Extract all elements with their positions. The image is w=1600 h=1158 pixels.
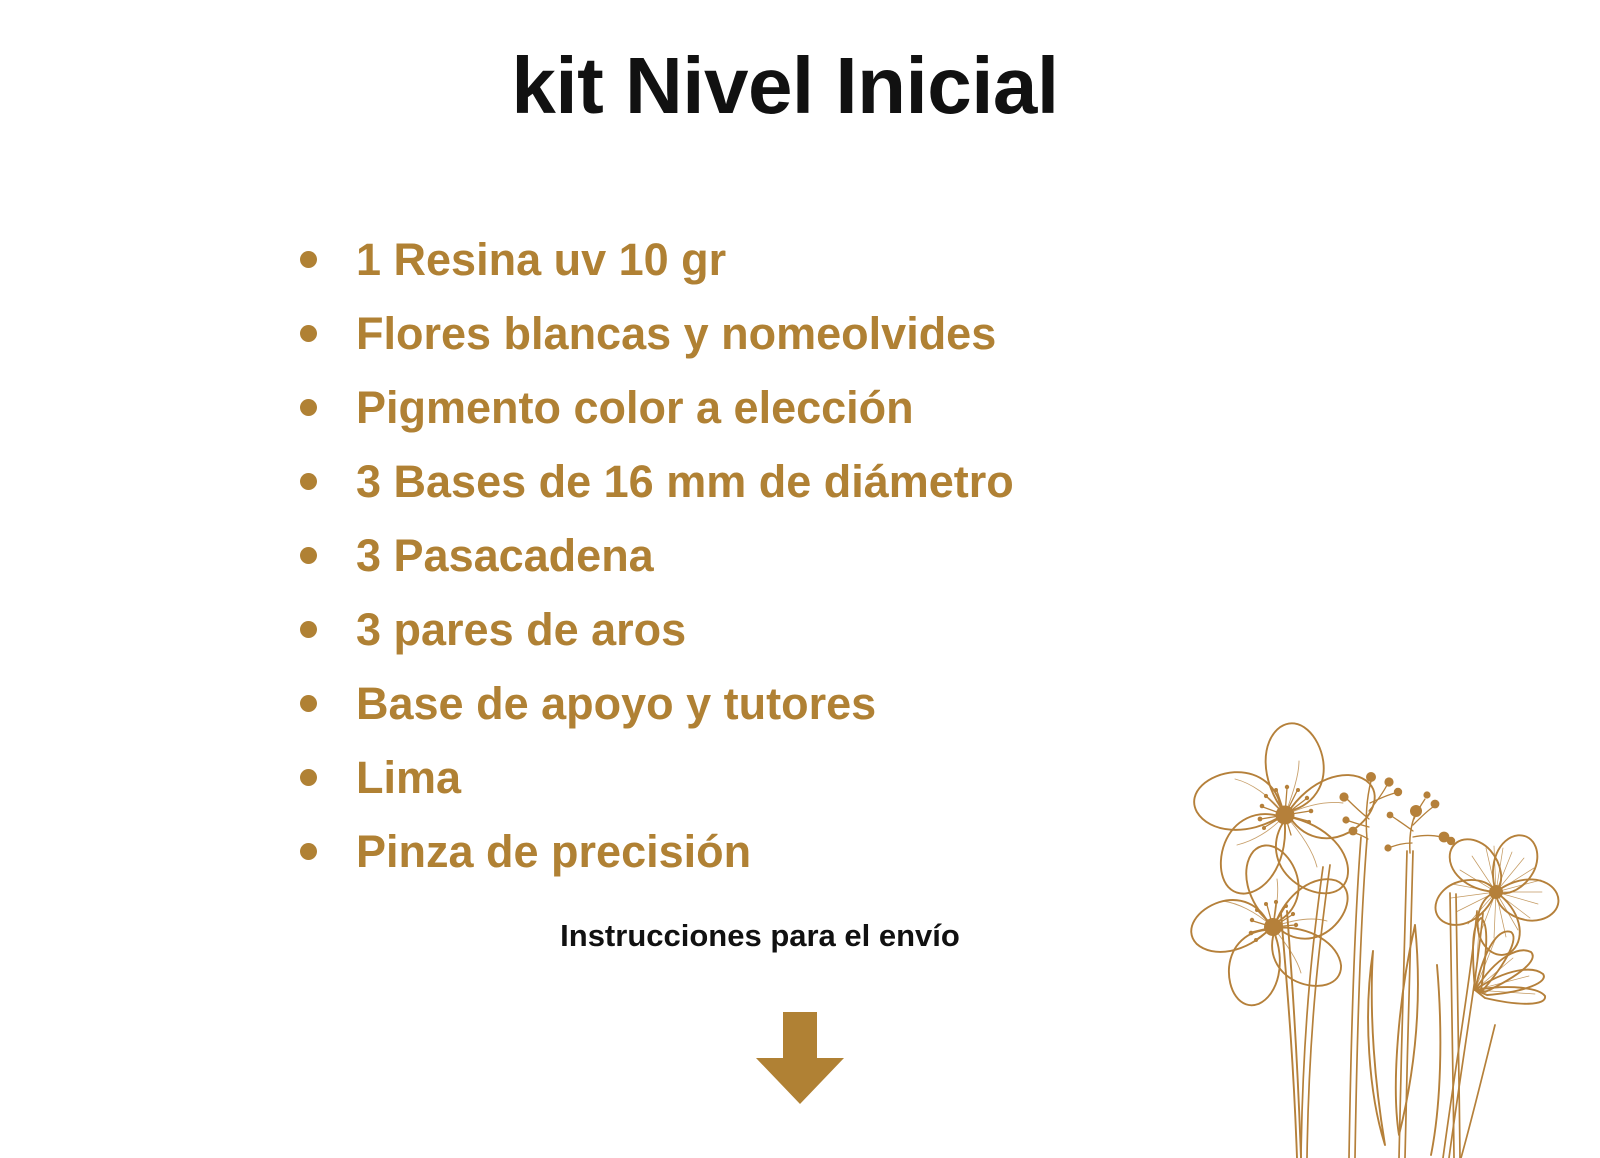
list-item-label: 3 Bases de 16 mm de diámetro <box>356 459 1014 504</box>
page-title: kit Nivel Inicial <box>0 44 1570 128</box>
wildflower-bouquet-illustration <box>1185 715 1600 1158</box>
bullet-icon <box>300 547 317 564</box>
list-item: 3 Pasacadena <box>300 518 1014 592</box>
list-item-label: Pigmento color a elección <box>356 385 914 430</box>
bullet-icon <box>300 399 317 416</box>
bullet-icon <box>300 251 317 268</box>
bullet-icon <box>300 325 317 342</box>
list-item-label: Lima <box>356 755 461 800</box>
list-item-label: Flores blancas y nomeolvides <box>356 311 996 356</box>
list-item: Lima <box>300 740 1014 814</box>
list-item: 3 Bases de 16 mm de diámetro <box>300 444 1014 518</box>
list-item-label: 1 Resina uv 10 gr <box>356 237 726 282</box>
poster-canvas: kit Nivel Inicial 1 Resina uv 10 gr Flor… <box>0 0 1600 1158</box>
kit-contents-list: 1 Resina uv 10 gr Flores blancas y nomeo… <box>300 222 1014 888</box>
shipping-instructions-label: Instrucciones para el envío <box>300 918 1220 954</box>
bullet-icon <box>300 473 317 490</box>
list-item: Flores blancas y nomeolvides <box>300 296 1014 370</box>
list-item-label: Base de apoyo y tutores <box>356 681 876 726</box>
bullet-icon <box>300 695 317 712</box>
bullet-icon <box>300 769 317 786</box>
list-item: 1 Resina uv 10 gr <box>300 222 1014 296</box>
bullet-icon <box>300 621 317 638</box>
list-item: 3 pares de aros <box>300 592 1014 666</box>
list-item-label: 3 pares de aros <box>356 607 686 652</box>
arrow-down-icon <box>752 1010 848 1106</box>
list-item: Base de apoyo y tutores <box>300 666 1014 740</box>
bullet-icon <box>300 843 317 860</box>
list-item: Pinza de precisión <box>300 814 1014 888</box>
list-item-label: 3 Pasacadena <box>356 533 654 578</box>
list-item-label: Pinza de precisión <box>356 829 751 874</box>
list-item: Pigmento color a elección <box>300 370 1014 444</box>
